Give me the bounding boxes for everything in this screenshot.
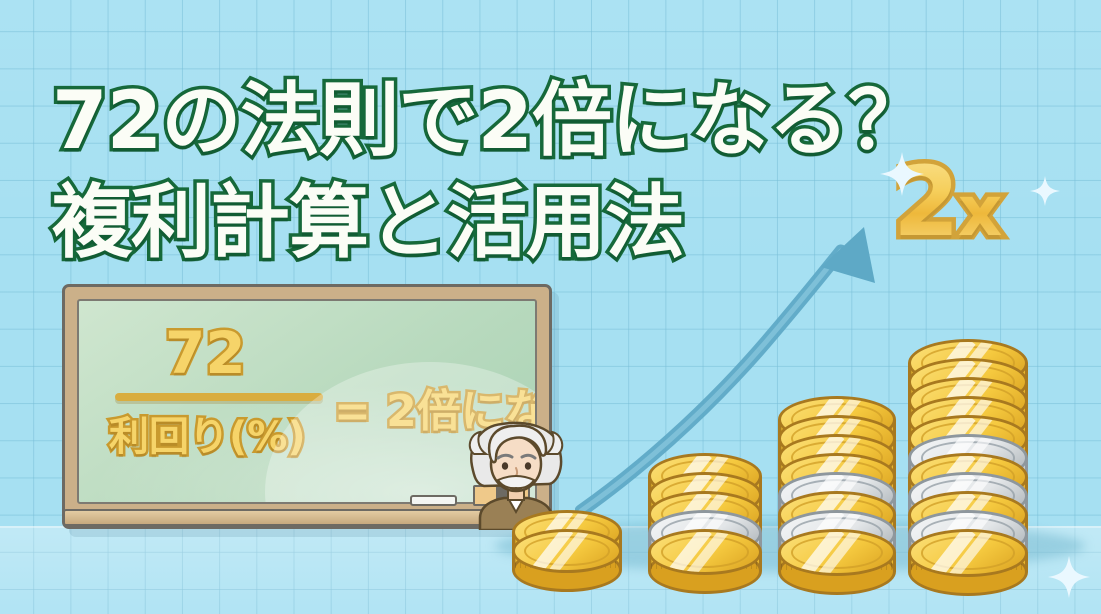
coin-stack bbox=[778, 0, 896, 614]
illustration-canvas: 72の法則で2倍になる？ 複利計算と活用法 72 利回り(%) = 2倍になる年… bbox=[0, 0, 1101, 614]
coin-gold bbox=[908, 529, 1028, 596]
coin-gold bbox=[778, 529, 896, 595]
formula-numerator: 72 bbox=[165, 319, 246, 387]
chalkboard-eraser bbox=[410, 495, 457, 506]
multiplier-badge: 2x bbox=[893, 154, 1000, 250]
coin-stack bbox=[512, 0, 622, 614]
coin-gold bbox=[512, 529, 622, 592]
formula-denominator: 利回り(%) bbox=[109, 404, 306, 462]
sparkle-top-right-icon bbox=[1030, 176, 1060, 206]
coin-gold bbox=[648, 529, 762, 594]
coin-stack bbox=[648, 0, 762, 614]
formula-fraction-bar bbox=[115, 393, 323, 401]
coin-stack bbox=[908, 0, 1028, 614]
